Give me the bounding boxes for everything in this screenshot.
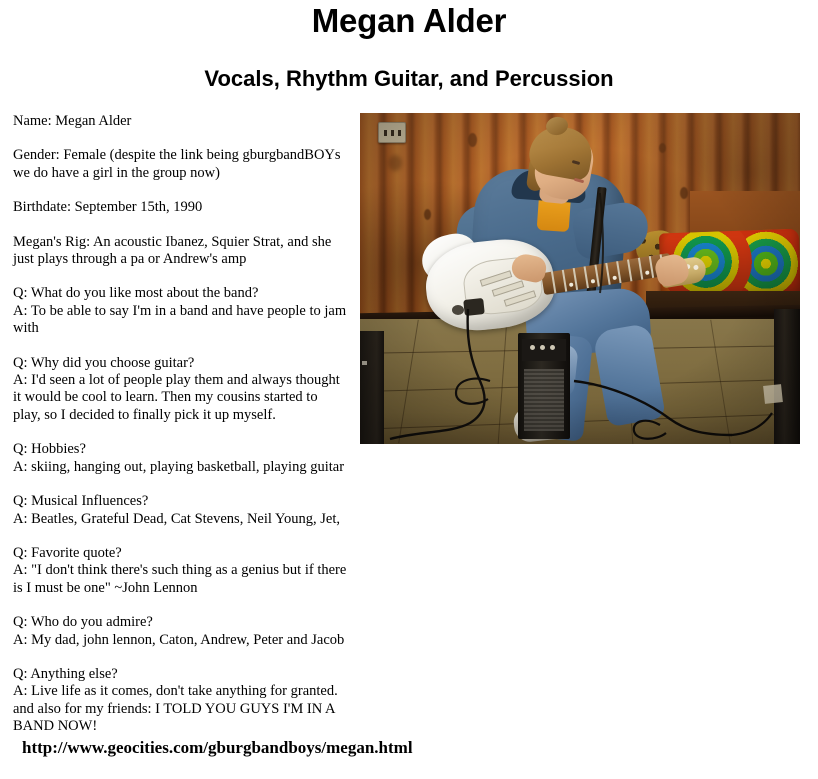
bio-line: A: "I don't think there's such thing as …	[13, 562, 349, 579]
band-member-photo	[360, 113, 800, 444]
rig-block: Megan's Rig: An acoustic Ibanez, Squier …	[13, 234, 349, 269]
floor-cable	[732, 413, 772, 435]
bio-line: Q: Favorite quote?	[13, 545, 349, 562]
qa-influences-block: Q: Musical Influences? A: Beatles, Grate…	[13, 493, 349, 528]
bio-line: A: To be able to say I'm in a band and h…	[13, 303, 349, 320]
qa-anything-block: Q: Anything else? A: Live life as it com…	[13, 666, 349, 736]
strap-cable	[600, 193, 603, 293]
bio-line: with	[13, 320, 349, 337]
qa-band-block: Q: What do you like most about the band?…	[13, 285, 349, 337]
bio-text-column: Name: Megan Alder Gender: Female (despit…	[13, 113, 349, 736]
qa-quote-block: Q: Favorite quote? A: "I don't think the…	[13, 545, 349, 597]
page-subtitle: Vocals, Rhythm Guitar, and Percussion	[0, 66, 818, 92]
bio-line: Q: What do you like most about the band?	[13, 285, 349, 302]
cables	[360, 113, 800, 444]
page-title: Megan Alder	[0, 2, 818, 40]
bio-line: A: I'd seen a lot of people play them an…	[13, 372, 349, 389]
floor-cable	[574, 381, 732, 435]
bio-line: Q: Anything else?	[13, 666, 349, 683]
bio-line: Gender: Female (despite the link being g…	[13, 147, 349, 164]
bio-line: and also for my friends: I TOLD YOU GUYS…	[13, 701, 349, 718]
bio-line: A: skiing, hanging out, playing basketba…	[13, 459, 349, 476]
page-url-footer[interactable]: http://www.geocities.com/gburgbandboys/m…	[22, 738, 413, 758]
guitar-cable	[390, 309, 485, 439]
bio-line: Birthdate: September 15th, 1990	[13, 199, 349, 216]
name-block: Name: Megan Alder	[13, 113, 349, 130]
cable-loop	[456, 379, 490, 404]
bio-line: Q: Hobbies?	[13, 441, 349, 458]
qa-hobbies-block: Q: Hobbies? A: skiing, hanging out, play…	[13, 441, 349, 476]
bio-line: BAND NOW!	[13, 718, 349, 735]
bio-line: we do have a girl in the group now)	[13, 165, 349, 182]
bio-line: just plays through a pa or Andrew's amp	[13, 251, 349, 268]
qa-guitar-block: Q: Why did you choose guitar? A: I'd see…	[13, 355, 349, 425]
bio-line: Q: Musical Influences?	[13, 493, 349, 510]
bio-line: Q: Who do you admire?	[13, 614, 349, 631]
bio-line: A: My dad, john lennon, Caton, Andrew, P…	[13, 632, 349, 649]
bio-line: it would be cool to learn. Then my cousi…	[13, 389, 349, 406]
bio-line: is I must be one" ~John Lennon	[13, 580, 349, 597]
birthdate-block: Birthdate: September 15th, 1990	[13, 199, 349, 216]
bio-line: A: Live life as it comes, don't take any…	[13, 683, 349, 700]
cable-loop	[634, 421, 666, 439]
bio-line: play, so I decided to finally pick it up…	[13, 407, 349, 424]
bio-line: Q: Why did you choose guitar?	[13, 355, 349, 372]
bio-line: A: Beatles, Grateful Dead, Cat Stevens, …	[13, 511, 349, 528]
bio-line: Megan's Rig: An acoustic Ibanez, Squier …	[13, 234, 349, 251]
gender-block: Gender: Female (despite the link being g…	[13, 147, 349, 182]
qa-admire-block: Q: Who do you admire? A: My dad, john le…	[13, 614, 349, 649]
bio-line: Name: Megan Alder	[13, 113, 349, 130]
